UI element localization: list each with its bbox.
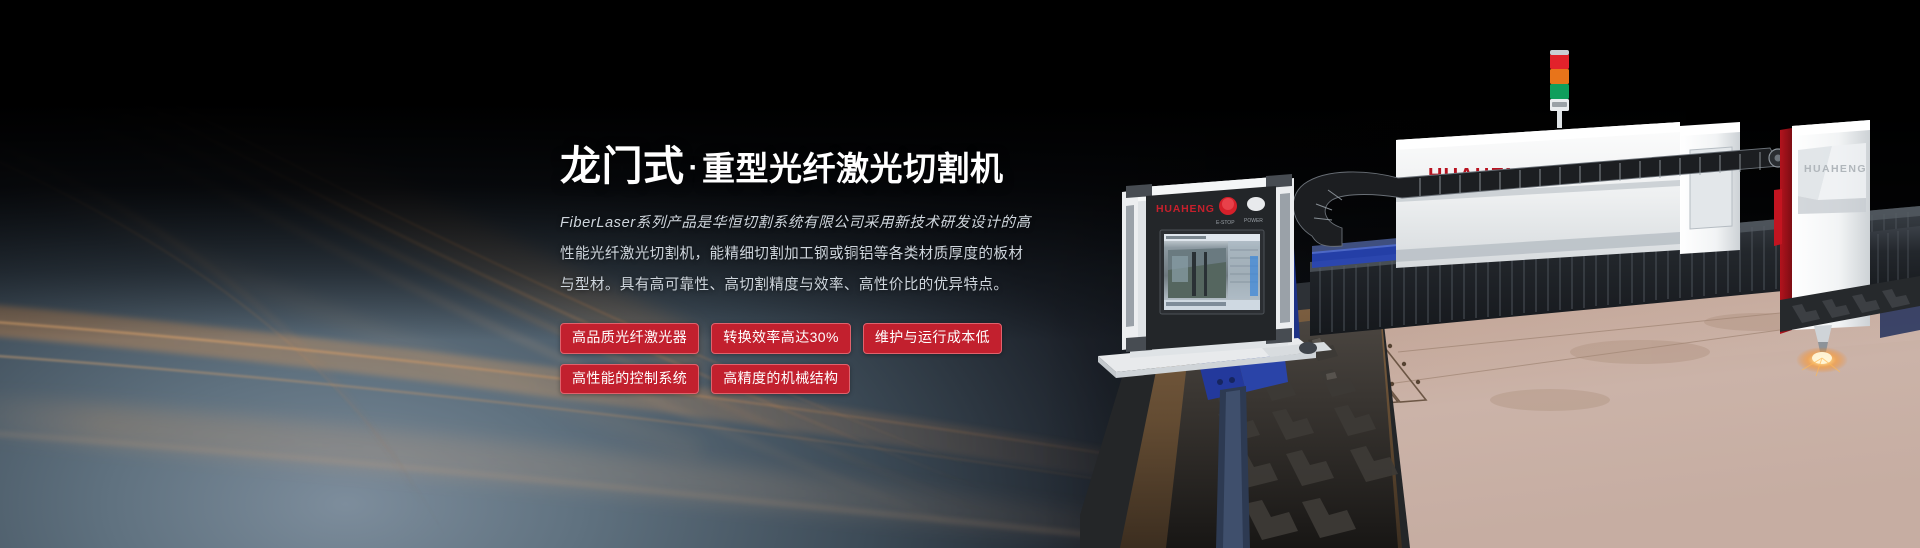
description-line-2: 性能光纤激光切割机，能精细切割加工钢或铜铝等各类材质厚度的板材	[560, 239, 1120, 270]
feature-tag-list: 高品质光纤激光器 转换效率高达30% 维护与运行成本低 高性能的控制系统 高精度…	[560, 323, 1030, 394]
title-sub: 重型光纤激光切割机	[702, 150, 1004, 188]
feature-tag-laser-source[interactable]: 高品质光纤激光器	[560, 323, 699, 353]
hero-banner: HUAHENG	[0, 0, 1920, 548]
feature-tag-control-system[interactable]: 高性能的控制系统	[560, 364, 699, 394]
feature-tag-mechanics[interactable]: 高精度的机械结构	[711, 364, 850, 394]
page-title: 龙门式 · 重型光纤激光切割机	[560, 143, 1120, 190]
feature-tag-low-cost[interactable]: 维护与运行成本低	[863, 323, 1002, 353]
laser-cutting-machine-photo: HUAHENG	[1080, 0, 1920, 548]
title-main: 龙门式	[560, 143, 685, 190]
product-description: FiberLaser系列产品是华恒切割系统有限公司采用新技术研发设计的高 性能光…	[560, 208, 1120, 301]
description-line-1: FiberLaser系列产品是华恒切割系统有限公司采用新技术研发设计的高	[560, 208, 1120, 239]
title-separator: ·	[689, 151, 700, 186]
description-line-3: 与型材。具有高可靠性、高切割精度与效率、高性价比的优异特点。	[560, 270, 1120, 301]
feature-tag-efficiency[interactable]: 转换效率高达30%	[711, 323, 851, 353]
hero-content: 龙门式 · 重型光纤激光切割机 FiberLaser系列产品是华恒切割系统有限公…	[560, 143, 1120, 394]
